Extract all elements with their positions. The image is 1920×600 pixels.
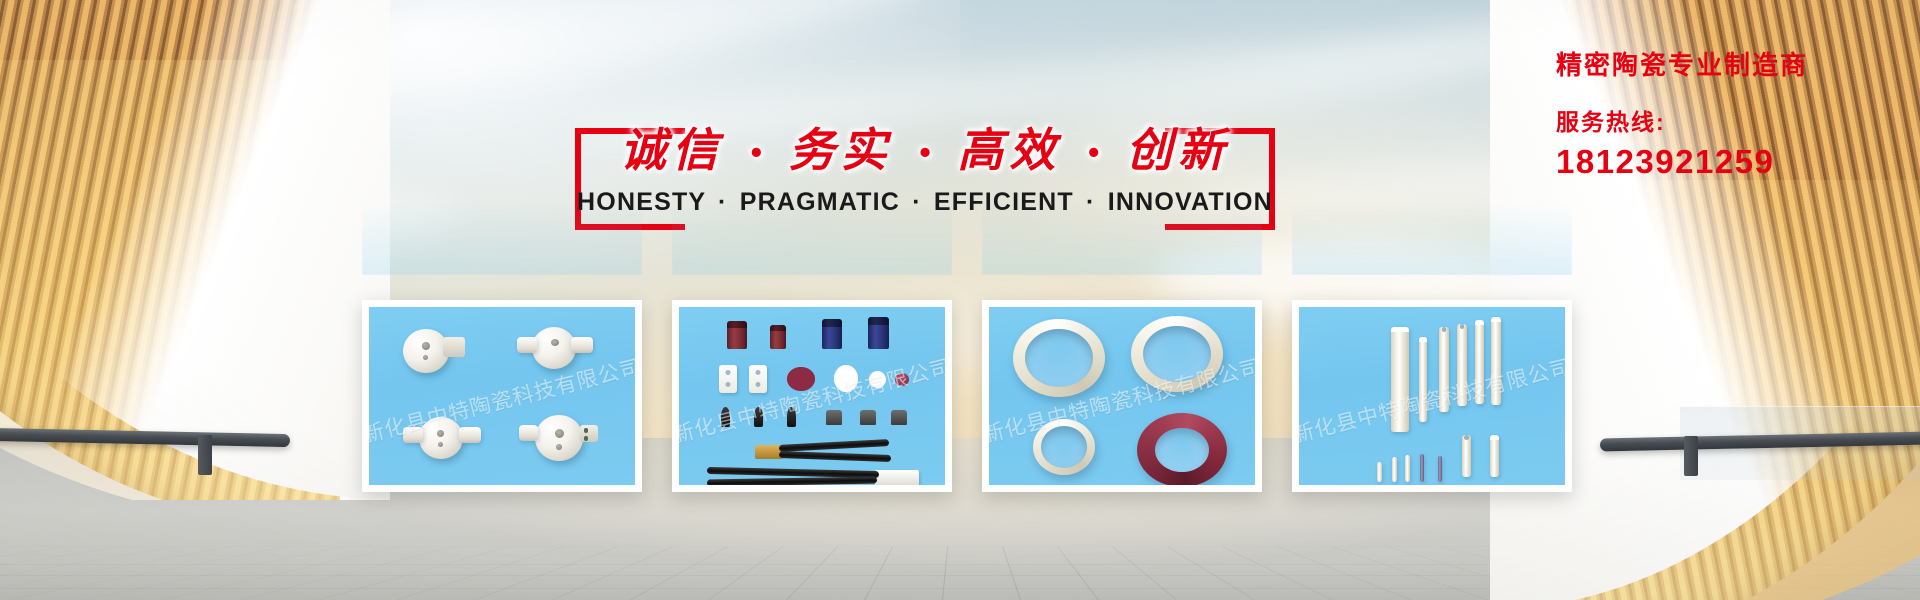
watermark: 新化县中特陶瓷科技有限公司 — [1299, 350, 1565, 448]
card-reflection — [672, 199, 952, 275]
lamp-holder-stub — [443, 337, 465, 357]
lamp-holder-tab — [403, 427, 423, 443]
card-reflection — [982, 199, 1262, 275]
ceramic-pin — [1392, 457, 1397, 482]
contact-block: 精密陶瓷专业制造商 服务热线: 18123921259 — [1556, 48, 1886, 181]
product-card-rings[interactable]: 新化县中特陶瓷科技有限公司 — [982, 300, 1262, 492]
ceramic-sleeve — [727, 321, 747, 349]
lamp-holder — [419, 417, 463, 459]
ceramic-tube — [1462, 435, 1471, 477]
ceramic-rod — [1419, 337, 1427, 422]
ceramic-plate — [719, 365, 737, 393]
lead-wire — [707, 477, 877, 485]
lamp-holder-tab — [517, 337, 537, 353]
lamp-holder-tab — [459, 427, 481, 443]
manufacturer-tagline: 精密陶瓷专业制造商 — [1556, 48, 1886, 83]
hotline-label: 服务热线: — [1556, 103, 1886, 137]
ceramic-sleeve — [822, 319, 842, 349]
promo-banner: 诚信 • 务实 • 高效 • 创新 HONESTY · PRAGMATIC · … — [0, 0, 1920, 600]
ceramic-tube — [1457, 324, 1467, 406]
ceramic-pin — [1377, 462, 1382, 482]
metal-clip — [826, 410, 842, 425]
slogan-cn-word-3: 高效 — [957, 123, 1061, 177]
hotline-number[interactable]: 18123921259 — [1556, 143, 1886, 181]
slogan-cn-word-1: 诚信 — [620, 123, 724, 177]
slogan-cn-sep: • — [746, 139, 767, 169]
card-reflection — [362, 199, 642, 275]
lamp-holder-pin — [584, 428, 588, 433]
product-card-lamp-holders[interactable]: 新化县中特陶瓷科技有限公司 — [362, 300, 642, 492]
lead-wire — [779, 451, 891, 462]
ceramic-ring-small — [1033, 419, 1095, 475]
ceramic-rod — [1391, 327, 1409, 432]
product-card-rods[interactable]: 新化县中特陶瓷科技有限公司 — [1292, 300, 1572, 492]
slogan-cn-word-4: 创新 — [1126, 123, 1230, 177]
lamp-holder-stub — [580, 425, 598, 442]
ceramic-pin-purple — [1438, 456, 1442, 482]
card-reflection — [1292, 199, 1572, 275]
slogan-cn-sep: • — [1083, 139, 1104, 169]
lamp-holder-pin — [584, 436, 588, 441]
lamp-holder — [535, 415, 583, 461]
slogan-cn-word-2: 务实 — [789, 123, 893, 177]
metal-wedge — [787, 407, 796, 427]
ceramic-ring-large — [1131, 316, 1223, 392]
ceramic-ring-maroon — [1137, 413, 1227, 485]
slogan-chinese: 诚信 • 务实 • 高效 • 创新 — [575, 114, 1275, 180]
slogan-cn-sep: • — [915, 139, 936, 169]
wire-connector — [875, 470, 919, 485]
metal-wedge — [721, 407, 730, 427]
ceramic-plate — [749, 365, 767, 393]
metal-clip — [891, 410, 907, 425]
lamp-holder-tab — [571, 337, 593, 353]
lamp-holder — [532, 327, 576, 369]
product-card-sleeves[interactable]: 新化县中特陶瓷科技有限公司 — [672, 300, 952, 492]
product-photo: 新化县中特陶瓷科技有限公司 — [369, 307, 635, 485]
metal-clip — [860, 410, 876, 425]
ceramic-ring-large — [1013, 319, 1105, 397]
ceramic-tube — [1439, 327, 1449, 412]
sealing-washer — [895, 373, 909, 386]
ceramic-rod — [1490, 435, 1499, 477]
ceramic-pin-purple — [1420, 454, 1424, 482]
ceramic-pin — [1405, 455, 1410, 482]
ceramic-bushing — [834, 365, 858, 392]
ceramic-rod — [1491, 317, 1501, 405]
product-photo: 新化县中特陶瓷科技有限公司 — [1299, 307, 1565, 485]
product-photo: 新化县中特陶瓷科技有限公司 — [989, 307, 1255, 485]
ceramic-cap — [869, 371, 886, 388]
lamp-holder-tab — [519, 425, 538, 441]
product-card-row: 新化县中特陶瓷科技有限公司 — [0, 300, 1920, 510]
product-photo: 新化县中特陶瓷科技有限公司 — [679, 307, 945, 485]
ceramic-rod — [1475, 320, 1484, 404]
ceramic-sleeve — [868, 317, 889, 349]
ceramic-sleeve — [770, 325, 786, 349]
lead-wire — [779, 439, 889, 452]
metal-wedge — [754, 407, 763, 427]
sealing-ring — [787, 367, 815, 391]
